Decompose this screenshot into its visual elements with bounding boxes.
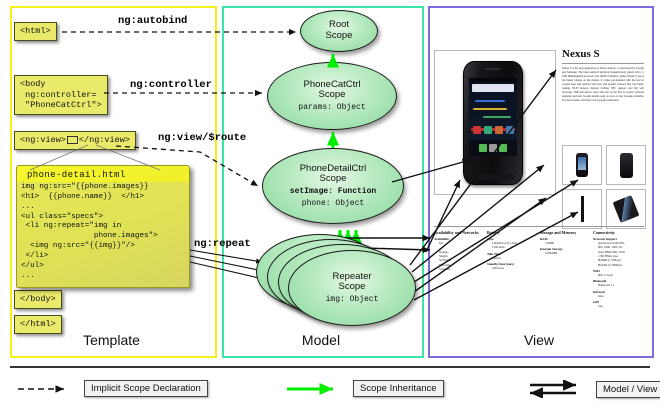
- phone-hero-image-frame: [434, 50, 556, 195]
- tag-ng-view: <ng:view></ng:view>: [14, 131, 136, 150]
- specs-heading: Availability and Networks: [434, 230, 485, 235]
- note-filename: phone-detail.html: [17, 166, 189, 182]
- scope-detail-prop-phone: phone: Object: [302, 199, 364, 209]
- scope-cat-line1: PhoneCatCtrl: [303, 79, 360, 90]
- specs-value: Quad-band GSM 850,900, 1800, 1900 Tri-ba…: [593, 241, 644, 267]
- scope-phonedetailctrl: PhoneDetailCtrlScope setImage: Function …: [262, 148, 404, 224]
- phone-ui-line-blue: [475, 100, 505, 102]
- specs-heading: Connectivity: [593, 230, 644, 235]
- thumbnail-phone-angled[interactable]: [606, 189, 646, 229]
- phone-statusbar: [469, 78, 517, 82]
- specs-value: M1Orange,Singtel,Softbank,T-Mobile,Vodaf…: [434, 241, 485, 271]
- scope-root: RootScope: [300, 10, 378, 52]
- tag-body-close: </body>: [14, 290, 62, 309]
- scope-repeater-line1: Repeater: [332, 271, 371, 282]
- specs-heading: Battery: [487, 230, 538, 235]
- edge-label-repeat: ng:repeat: [194, 238, 251, 250]
- ng-view-close: </ng:view>: [79, 135, 130, 145]
- legend-label: Implicit Scope Declaration: [84, 380, 208, 397]
- legend-green-arrow-icon: [285, 382, 345, 396]
- phone-screen: [469, 78, 517, 156]
- specs-value: 6 hours: [487, 256, 538, 260]
- tag-html-open: <html>: [14, 22, 57, 41]
- legend-label: Scope Inheritance: [353, 380, 444, 397]
- thumbnail-phone-front[interactable]: [562, 145, 602, 185]
- specs-column-connectivity: Connectivity Network Support Quad-band G…: [593, 230, 644, 308]
- view-page: Nexus S Nexus S is the next generation o…: [434, 12, 644, 340]
- legend-item-scope-inheritance: Scope Inheritance: [285, 380, 444, 397]
- specs-column-battery: Battery Type Lithium Ion (Li-Ion)1500 mA…: [487, 230, 538, 308]
- specs-value: false: [593, 294, 644, 298]
- scope-repeater-line2: Scope: [339, 281, 366, 292]
- specs-value: 16384MB: [540, 251, 591, 255]
- specs-value: Lithium Ion (Li-Ion)1500 mAh: [487, 241, 538, 250]
- scope-cat-line2: Scope: [319, 89, 346, 100]
- legend-label: Model / View Data-binding: [596, 381, 660, 398]
- scope-repeater-prop-img: img: Object: [326, 295, 379, 305]
- specs-column-storage: Storage and Memory RAM 512MB Internal St…: [540, 230, 591, 308]
- phone-speaker-icon: [485, 68, 501, 70]
- edge-label-autobind: ng:autobind: [118, 15, 187, 27]
- specs-divider: [434, 226, 644, 227]
- specs-value: 512MB: [540, 241, 591, 245]
- specs-value: true: [593, 304, 644, 308]
- tag-html-close: </html>: [14, 315, 62, 334]
- phone-ui-line-yellow: [473, 108, 507, 110]
- view-specs-table: Availability and Networks Availability M…: [434, 230, 644, 308]
- view-thumbnail-list: [562, 145, 646, 229]
- phone-dock-icon-3: [499, 144, 507, 152]
- edge-label-route: ng:view/$route: [158, 132, 246, 144]
- scope-cat-prop-params: params: Object: [298, 103, 365, 113]
- scope-detail-line2: Scope: [320, 173, 347, 184]
- view-title-rule: [562, 63, 644, 64]
- note-code: img ng:src="{{phone.images}} <h1> {{phon…: [17, 182, 189, 287]
- legend-item-data-binding: Model / View Data-binding: [528, 380, 660, 398]
- phone-device-image: [463, 61, 523, 185]
- legend-dashed-arrow-icon: [16, 382, 76, 396]
- view-product-description: Nexus S is the next generation of Nexus …: [562, 67, 644, 103]
- legend-divider: [10, 366, 650, 368]
- ng-view-placeholder-icon: [67, 136, 78, 144]
- specs-column-availability: Availability and Networks Availability M…: [434, 230, 485, 308]
- scope-phonecatctrl: PhoneCatCtrlScope params: Object: [267, 62, 397, 130]
- scope-repeater: RepeaterScope img: Object: [288, 250, 416, 326]
- scope-detail-prop-setimage: setImage: Function: [290, 187, 376, 197]
- phone-buttons-bar: [472, 174, 514, 180]
- tag-body-open: <body ng:controller= "PhoneCatCtrl">: [14, 75, 108, 115]
- phone-app-icon-3: [495, 126, 503, 134]
- phone-app-icon-1: [473, 126, 481, 134]
- panel-label-template: Template: [10, 332, 213, 348]
- panel-label-view: View: [428, 332, 650, 348]
- specs-value: 428 hours: [487, 266, 538, 270]
- scope-root-line1: Root: [329, 19, 349, 30]
- phone-app-icon-4: [506, 126, 514, 134]
- legend-double-arrow-icon: [528, 380, 588, 398]
- thumbnail-phone-back[interactable]: [606, 145, 646, 185]
- sticky-note-phone-detail: phone-detail.html img ng:src="{{phone.im…: [16, 165, 190, 288]
- thumbnail-phone-side[interactable]: [562, 189, 602, 229]
- specs-value: 802.11 b/g/n: [593, 273, 644, 277]
- legend-item-implicit-scope: Implicit Scope Declaration: [16, 380, 208, 397]
- phone-dock-icon-2: [489, 144, 497, 152]
- scope-detail-line1: PhoneDetailCtrl: [300, 163, 367, 174]
- phone-dock-icon-1: [479, 144, 487, 152]
- specs-value: Bluetooth 2.1: [593, 283, 644, 287]
- phone-search-widget: [472, 84, 514, 92]
- specs-heading: Storage and Memory: [540, 230, 591, 235]
- panel-label-model: Model: [222, 332, 420, 348]
- view-product-title: Nexus S: [562, 48, 600, 60]
- scope-root-line2: Scope: [326, 30, 353, 41]
- diagram-canvas: <html> <body ng:controller= "PhoneCatCtr…: [0, 0, 660, 420]
- phone-ui-line-green: [483, 116, 511, 118]
- phone-app-icon-2: [484, 126, 492, 134]
- ng-view-open: <ng:view>: [20, 135, 66, 145]
- edge-label-controller: ng:controller: [130, 79, 212, 91]
